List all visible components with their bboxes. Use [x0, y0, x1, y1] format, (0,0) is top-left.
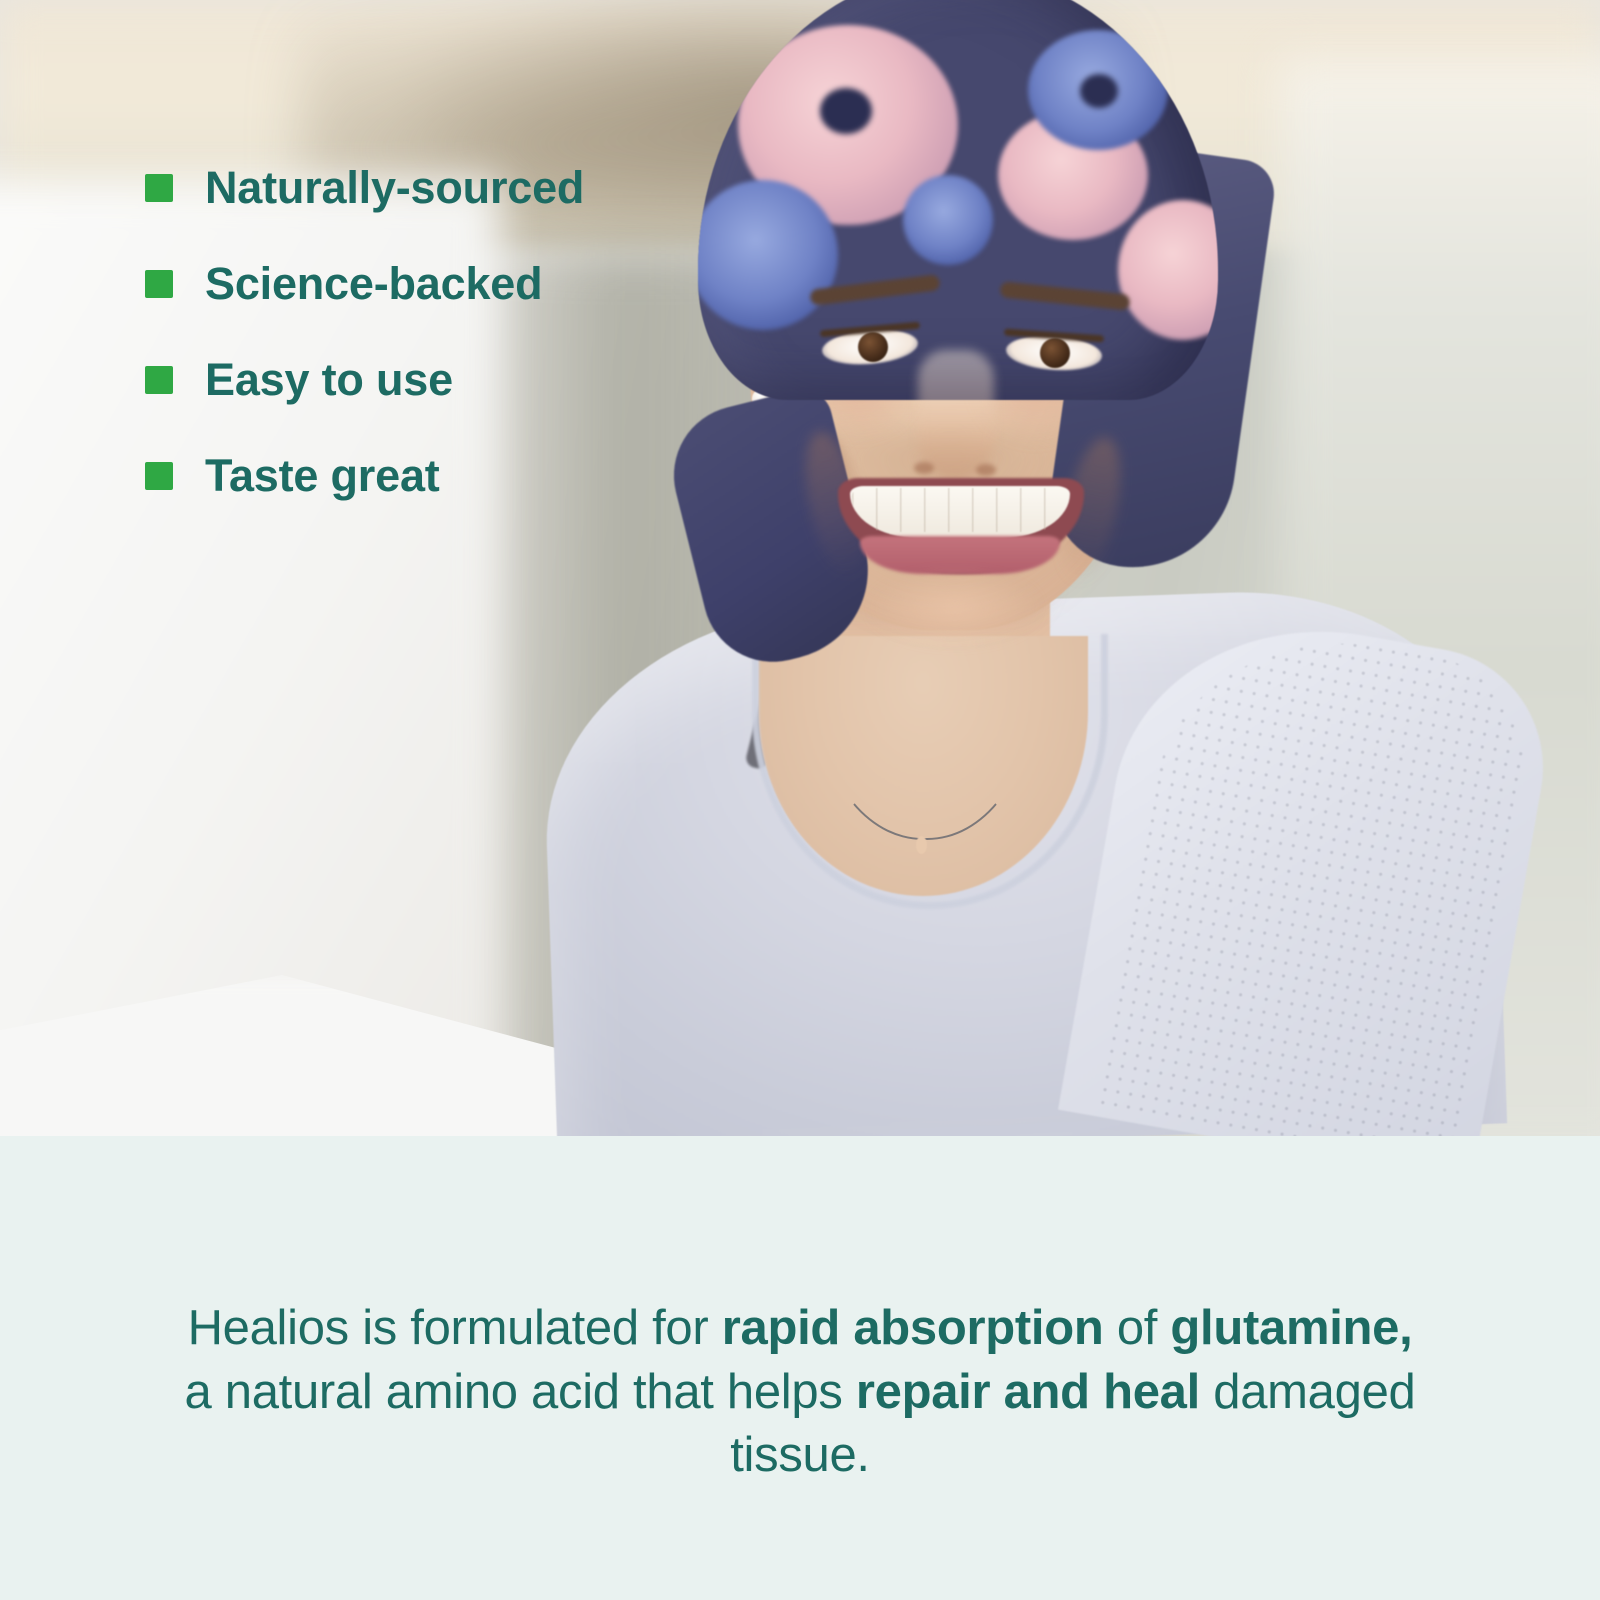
lower-lip [860, 536, 1060, 574]
necklace-pendant [916, 836, 927, 854]
desc-text-3: a natural amino acid that helps [184, 1365, 855, 1419]
product-benefits-infographic: Naturally-sourced Science-backed Easy to… [0, 0, 1600, 1600]
scarf-flower-center-2 [1080, 74, 1118, 108]
bullet-square-icon [145, 270, 173, 298]
chin-highlight [870, 572, 1040, 644]
desc-bold-glutamine: glutamine, [1170, 1301, 1412, 1355]
benefit-label: Taste great [205, 450, 440, 502]
scarf-flower-pink-3 [1118, 200, 1218, 340]
description-panel: Healios is formulated for rapid absorpti… [0, 1136, 1600, 1600]
desc-text-1: Healios is formulated for [188, 1301, 722, 1355]
benefit-label: Naturally-sourced [205, 162, 584, 214]
nose [918, 350, 994, 480]
nostril-left [914, 462, 934, 474]
benefits-list: Naturally-sourced Science-backed Easy to… [145, 140, 765, 524]
benefit-item-science-backed: Science-backed [145, 236, 765, 332]
nostril-right [976, 464, 996, 476]
scarf-flower-center-1 [820, 88, 872, 134]
bullet-square-icon [145, 174, 173, 202]
iris-right [1040, 338, 1070, 368]
benefit-label: Easy to use [205, 354, 453, 406]
desc-bold-repair-and-heal: repair and heal [856, 1365, 1200, 1419]
benefit-label: Science-backed [205, 258, 542, 310]
teeth-detail [852, 488, 1068, 532]
benefit-item-easy-to-use: Easy to use [145, 332, 765, 428]
desc-bold-rapid-absorption: rapid absorption [722, 1301, 1104, 1355]
benefit-item-taste-great: Taste great [145, 428, 765, 524]
bullet-square-icon [145, 462, 173, 490]
iris-left [858, 332, 888, 362]
benefit-item-naturally-sourced: Naturally-sourced [145, 140, 765, 236]
desc-text-2: of [1104, 1301, 1171, 1355]
scarf-flower-blue-3 [903, 175, 993, 265]
hero-photo: Naturally-sourced Science-backed Easy to… [0, 0, 1600, 1136]
description-paragraph: Healios is formulated for rapid absorpti… [170, 1297, 1430, 1488]
bullet-square-icon [145, 366, 173, 394]
headscarf [698, 0, 1218, 400]
